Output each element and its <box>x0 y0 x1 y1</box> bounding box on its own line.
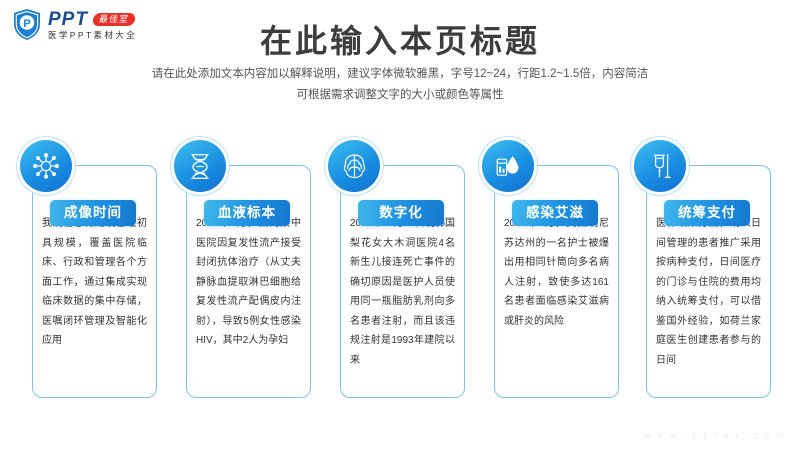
card-body-text: 2018年3月，美国明尼苏达州的一名护士被爆出用相同针筒向多名病人注射，致使多达… <box>504 214 609 331</box>
blood-drop-test-icon <box>482 140 534 192</box>
page-subtitle: 请在此处添加文本内容加以解释说明，建议字体微软雅黑，字号12~24，行距1.2~… <box>0 64 800 107</box>
card-title-badge: 成像时间 <box>50 200 136 226</box>
card-body-text: 2017年12月16日晚韩国梨花女大木洞医院4名新生儿接连死亡事件的确切原因是医… <box>350 214 455 370</box>
page-subtitle-line-1: 请在此处添加文本内容加以解释说明，建议字体微软雅黑，字号12~24，行距1.2~… <box>0 64 800 85</box>
info-card[interactable]: 成像时间 我院信息化建设已经初具规模，覆盖医院临床、行政和管理各个方面工作，通过… <box>32 165 157 398</box>
site-watermark: w w w . p p t e r . c o m <box>644 430 786 440</box>
info-card[interactable]: 感染艾滋 2018年3月，美国明尼苏达州的一名护士被爆出用相同针筒向多名病人注射… <box>494 165 619 398</box>
card-row: 成像时间 我院信息化建设已经初具规模，覆盖医院临床、行政和管理各个方面工作，通过… <box>0 138 800 403</box>
page-subtitle-line-2: 可根据需求调整文字的大小或颜色等属性 <box>0 85 800 106</box>
info-card[interactable]: 数字化 2017年12月16日晚韩国梨花女大木洞医院4名新生儿接连死亡事件的确切… <box>340 165 465 398</box>
info-card[interactable]: 血液标本 2017年1月，国内某中医院因复发性流产接受封闭抗体治疗（从丈夫静脉血… <box>186 165 311 398</box>
card-title-badge: 血液标本 <box>204 200 290 226</box>
info-card[interactable]: 统筹支付 医保政策方面，纳入日间管理的患者推广采用按病种支付，日间医疗的门诊与住… <box>646 165 771 398</box>
brain-icon <box>328 140 380 192</box>
card-body-text: 我院信息化建设已经初具规模，覆盖医院临床、行政和管理各个方面工作，通过集成实现临… <box>42 214 147 351</box>
iv-drip-icon <box>634 140 686 192</box>
page-title: 在此输入本页标题 <box>0 16 800 62</box>
card-body-text: 医保政策方面，纳入日间管理的患者推广采用按病种支付，日间医疗的门诊与住院的费用均… <box>656 214 761 370</box>
card-title-badge: 感染艾滋 <box>512 200 598 226</box>
card-title-badge: 数字化 <box>358 200 444 226</box>
card-title-badge: 统筹支付 <box>664 200 750 226</box>
molecule-icon <box>20 140 72 192</box>
card-body-text: 2017年1月，国内某中医院因复发性流产接受封闭抗体治疗（从丈夫静脉血提取淋巴细… <box>196 214 301 351</box>
dna-helix-icon <box>174 140 226 192</box>
